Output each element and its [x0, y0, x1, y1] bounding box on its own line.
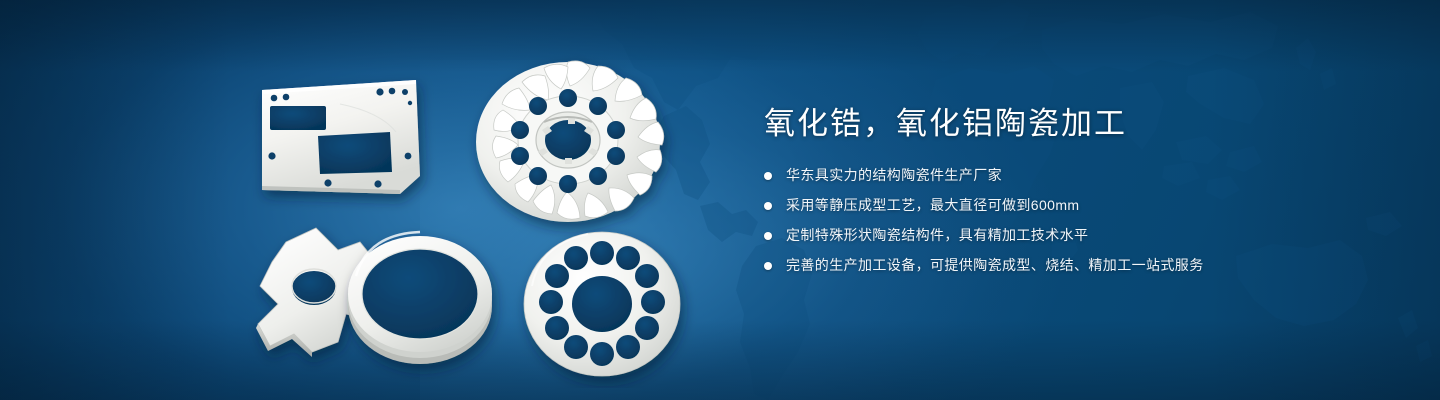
bullet-dot-icon: [764, 202, 772, 210]
list-item: 完善的生产加工设备，可提供陶瓷成型、烧结、精加工一站式服务: [764, 256, 1384, 275]
ceramic-plate-part: [262, 80, 420, 194]
list-item: 定制特殊形状陶瓷结构件，具有精加工技术水平: [764, 226, 1384, 245]
page-title: 氧化锆，氧化铝陶瓷加工: [764, 104, 1384, 144]
list-item: 华东具实力的结构陶瓷件生产厂家: [764, 166, 1384, 185]
bullet-dot-icon: [764, 172, 772, 180]
list-item-label: 华东具实力的结构陶瓷件生产厂家: [786, 167, 1002, 183]
ceramic-perforated-disc-part: [524, 232, 680, 376]
feature-list: 华东具实力的结构陶瓷件生产厂家 采用等静压成型工艺，最大直径可做到600mm 定…: [764, 166, 1384, 275]
bullet-dot-icon: [764, 232, 772, 240]
list-item-label: 定制特殊形状陶瓷结构件，具有精加工技术水平: [786, 227, 1088, 243]
promo-banner: 氧化锆，氧化铝陶瓷加工 华东具实力的结构陶瓷件生产厂家 采用等静压成型工艺，最大…: [0, 0, 1440, 400]
list-item: 采用等静压成型工艺，最大直径可做到600mm: [764, 196, 1384, 215]
list-item-label: 完善的生产加工设备，可提供陶瓷成型、烧结、精加工一站式服务: [786, 257, 1204, 273]
bullet-dot-icon: [764, 262, 772, 270]
ceramic-ring-part: [348, 232, 492, 364]
list-item-label: 采用等静压成型工艺，最大直径可做到600mm: [786, 197, 1079, 213]
ceramic-impeller-part: [476, 61, 664, 222]
banner-copy: 氧化锆，氧化铝陶瓷加工 华东具实力的结构陶瓷件生产厂家 采用等静压成型工艺，最大…: [764, 104, 1384, 275]
ceramic-components-photo: [240, 48, 700, 388]
